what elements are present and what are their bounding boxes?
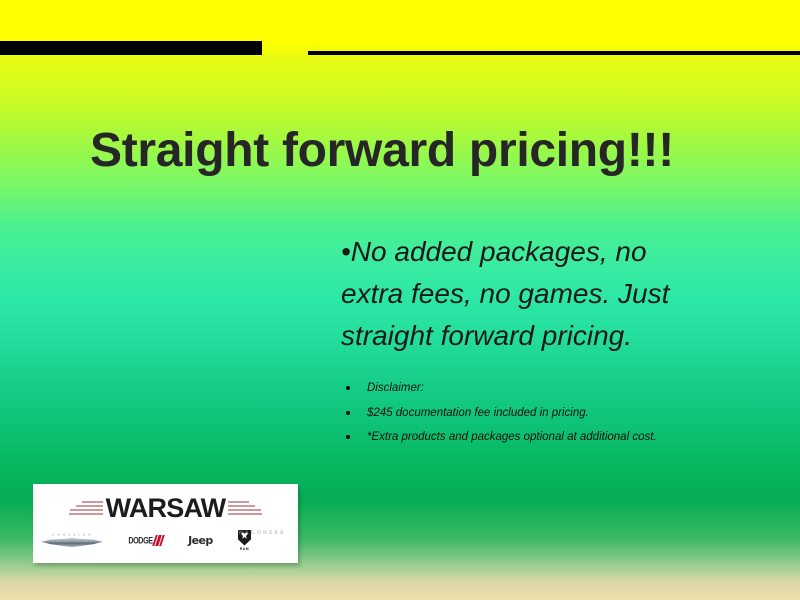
jeep-logo: Jeep <box>188 534 213 547</box>
slide-canvas: Straight forward pricing!!! •No added pa… <box>0 0 800 600</box>
dodge-logo: DODGE <box>128 535 163 546</box>
dodge-slashes-icon <box>152 535 165 546</box>
decorative-rule-thin <box>308 51 800 55</box>
main-bullet-text: •No added packages, no extra fees, no ga… <box>341 231 681 357</box>
bullet-dot-icon <box>346 435 350 439</box>
dealer-logo-card: WARSAW C H R Y S L E R DODGE Jeep <box>33 484 298 563</box>
list-item: *Extra products and packages optional at… <box>346 431 746 444</box>
bullet-dot-icon <box>346 386 350 390</box>
wagoneer-label: WAGONEER <box>229 530 295 536</box>
dodge-label: DODGE <box>128 534 152 545</box>
slide-title: Straight forward pricing!!! <box>90 126 750 176</box>
chrysler-label: C H R Y S L E R <box>52 533 92 537</box>
disclaimer-text: Disclaimer: <box>367 382 424 394</box>
list-item: $245 documentation fee included in prici… <box>346 407 746 420</box>
stripes-right-icon <box>228 501 262 515</box>
disclaimer-text: *Extra products and packages optional at… <box>367 431 657 443</box>
dealer-name-text: WARSAW <box>103 495 229 522</box>
brand-logo-row: C H R Y S L E R DODGE Jeep RAM <box>41 527 251 553</box>
jeep-label: Jeep <box>188 534 213 547</box>
chrysler-wing-icon <box>41 538 103 547</box>
disclaimer-text: $245 documentation fee included in prici… <box>367 407 589 419</box>
disclaimer-list: Disclaimer: $245 documentation fee inclu… <box>346 382 746 456</box>
chrysler-logo: C H R Y S L E R <box>41 533 103 547</box>
bullet-dot-icon <box>346 411 350 415</box>
ram-label: RAM <box>240 547 250 551</box>
decorative-rule-thick <box>0 41 262 55</box>
list-item: Disclaimer: <box>346 382 746 395</box>
dealer-wordmark: WARSAW <box>33 493 298 523</box>
stripes-left-icon <box>69 501 103 515</box>
